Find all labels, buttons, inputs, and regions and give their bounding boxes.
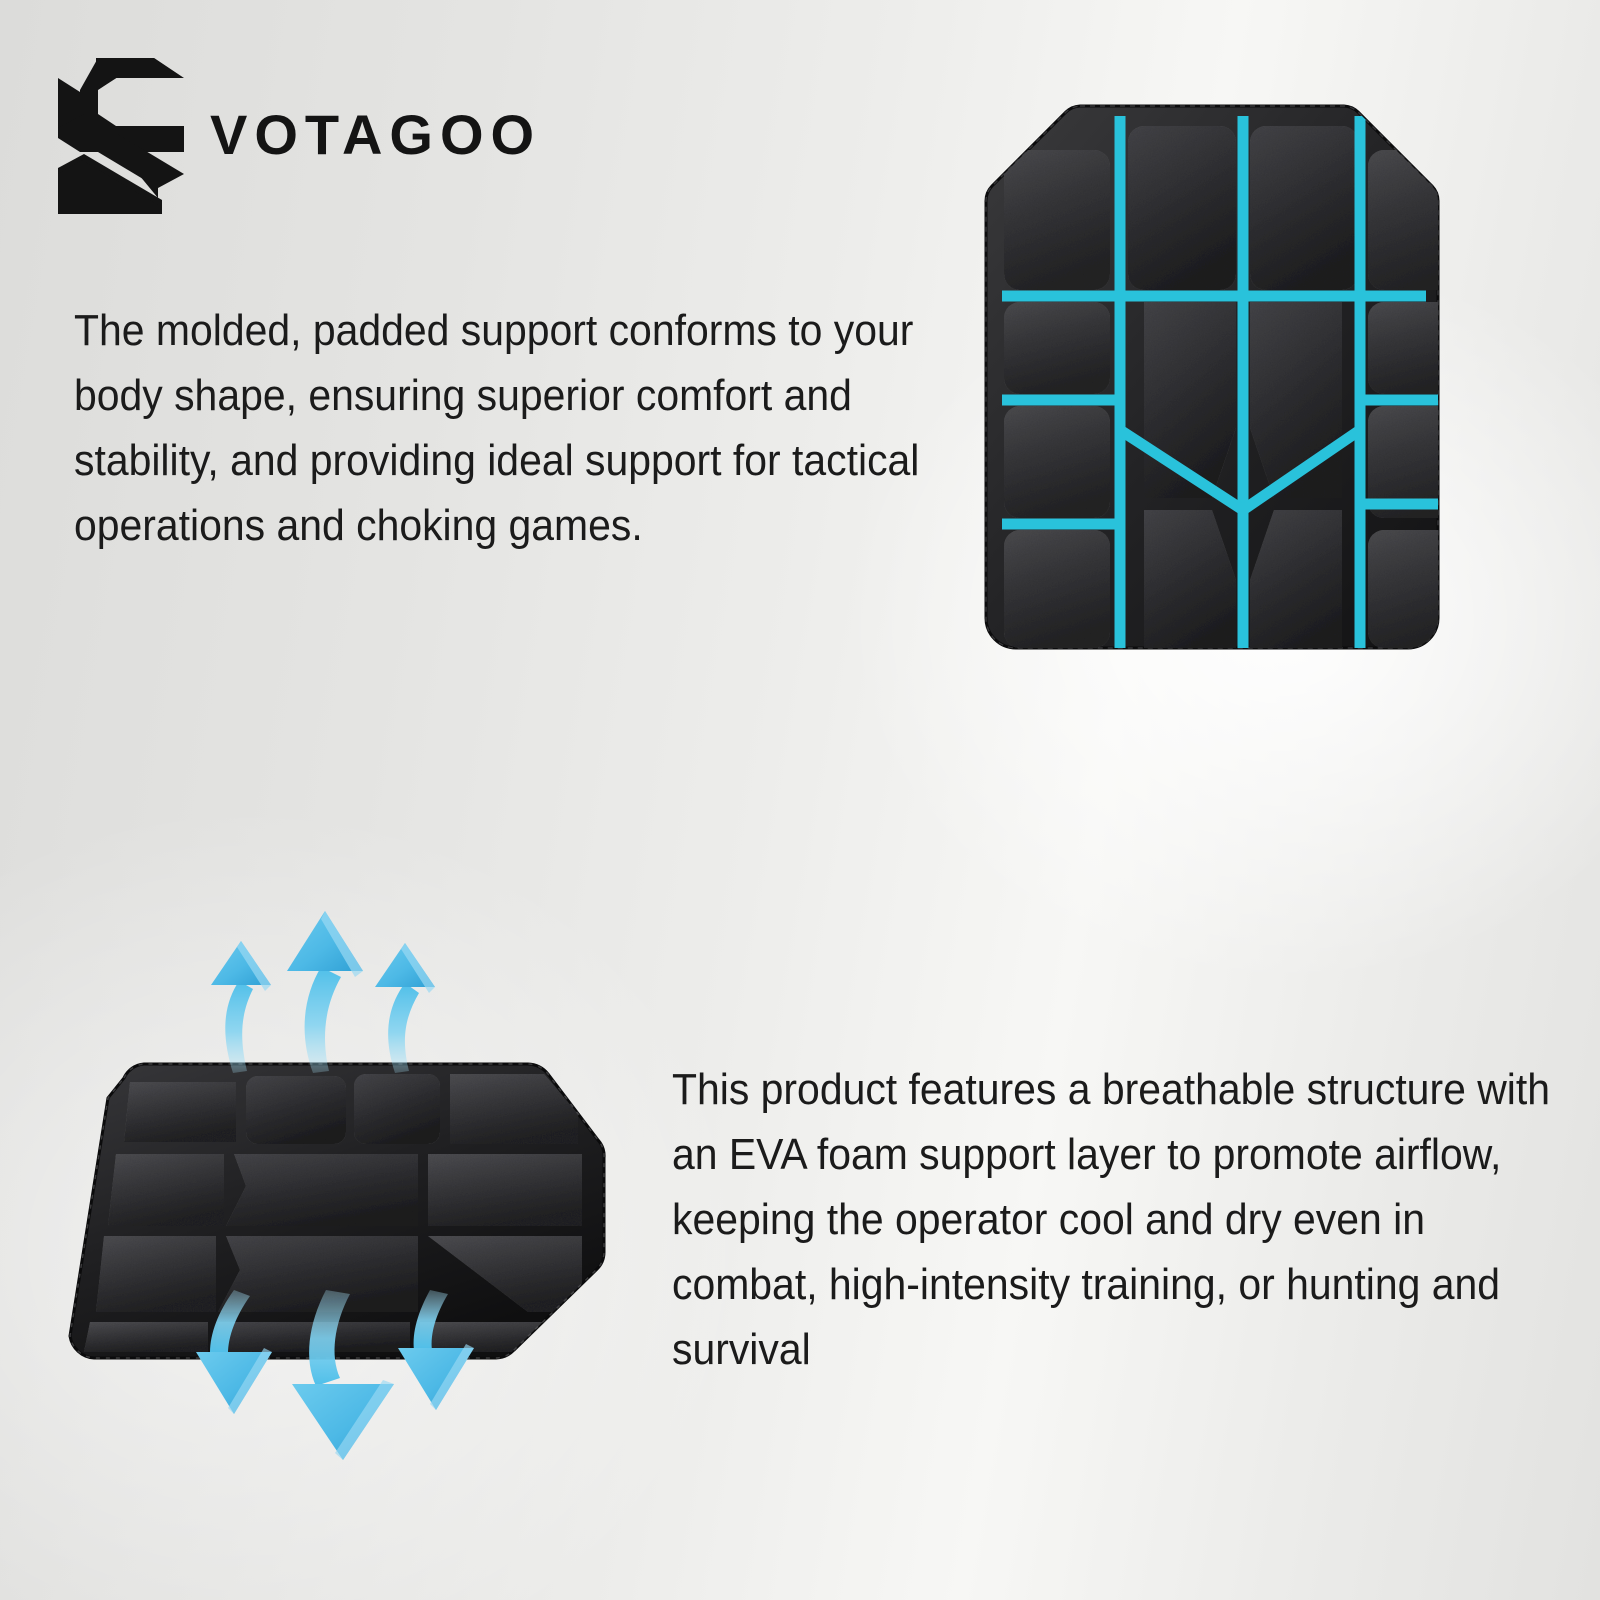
bottom-description-paragraph: This product features a breathable struc… xyxy=(672,1057,1574,1383)
brand-name: VOTAGOO xyxy=(210,107,541,163)
product-infographic: VOTAGOO The molded, padded support confo… xyxy=(0,0,1600,1600)
brand-logo: VOTAGOO xyxy=(58,56,541,214)
votagoo-chevron-s-mark-icon xyxy=(58,56,184,214)
back-pad-angled-view-image xyxy=(58,1020,628,1420)
back-pad-front-view-image xyxy=(962,98,1462,678)
top-description-paragraph: The molded, padded support conforms to y… xyxy=(74,298,995,558)
